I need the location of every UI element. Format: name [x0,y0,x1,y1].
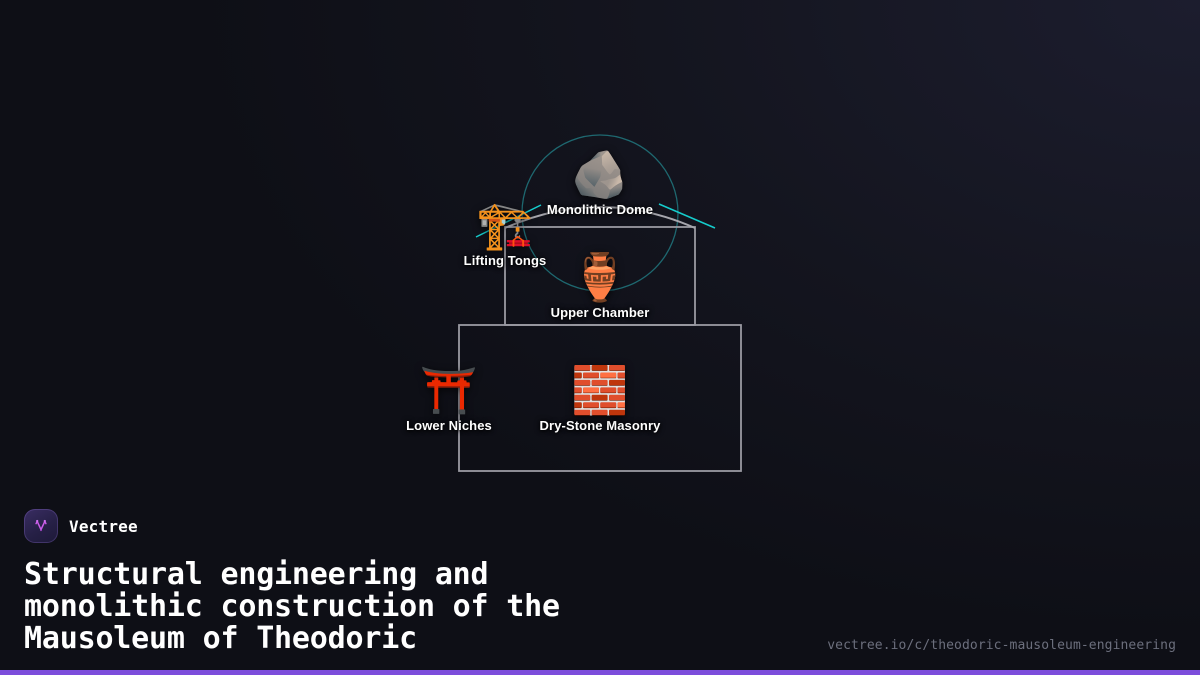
node-label-lower-niches: Lower Niches [406,418,492,433]
construction-crane-icon: 🏗️ [476,199,533,251]
brick-wall-icon: 🧱 [571,364,628,416]
node-upper-chamber[interactable]: 🏺 Upper Chamber [500,251,700,320]
rock-icon: 🪨 [571,148,628,200]
node-label-dry-stone-masonry: Dry-Stone Masonry [540,418,661,433]
brand-row[interactable]: Vectree [24,509,1176,543]
brand-name: Vectree [69,517,138,536]
torii-gate-icon: ⛩️ [420,364,477,416]
node-label-upper-chamber: Upper Chamber [551,305,650,320]
diagram-area: 🪨 Monolithic Dome 🏗️ Lifting Tongs 🏺 Upp… [0,0,1200,500]
accent-bar [0,670,1200,675]
page-title: Structural engineering and monolithic co… [24,559,724,655]
node-dry-stone-masonry[interactable]: 🧱 Dry-Stone Masonry [500,364,700,433]
amphora-urn-icon: 🏺 [571,251,628,303]
source-url: vectree.io/c/theodoric-mausoleum-enginee… [827,638,1176,653]
infographic-canvas: 🪨 Monolithic Dome 🏗️ Lifting Tongs 🏺 Upp… [0,0,1200,675]
vectree-tree-logo-icon [24,509,58,543]
